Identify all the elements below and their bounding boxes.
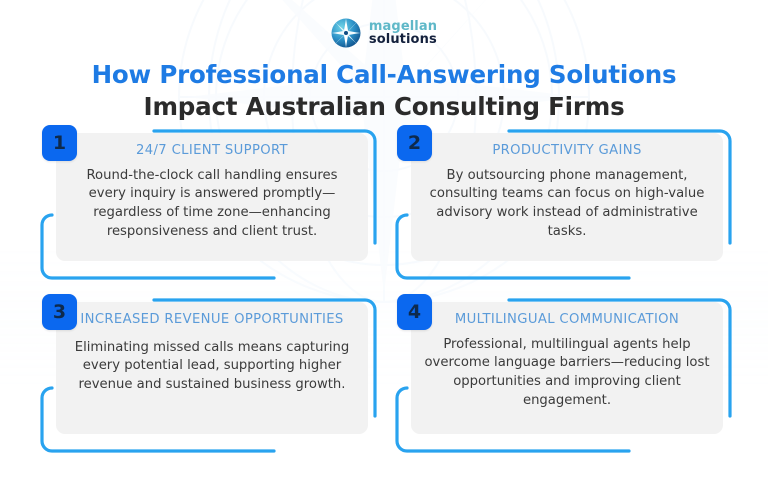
card-item: 24/7 CLIENT SUPPORT Round-the-clock call…	[36, 125, 391, 285]
brand-wordmark: magellan solutions	[369, 20, 437, 46]
card-title: MULTILINGUAL COMMUNICATION	[455, 311, 679, 328]
card-number-badge: 2	[397, 125, 432, 161]
card-item: INCREASED REVENUE OPPORTUNITIES Eliminat…	[36, 294, 391, 454]
card-panel: 24/7 CLIENT SUPPORT Round-the-clock call…	[56, 133, 368, 261]
page-title: How Professional Call-Answering Solution…	[0, 60, 768, 122]
card-panel: PRODUCTIVITY GAINS By outsourcing phone …	[411, 133, 723, 261]
card-panel: INCREASED REVENUE OPPORTUNITIES Eliminat…	[56, 302, 368, 434]
cards-grid: 24/7 CLIENT SUPPORT Round-the-clock call…	[0, 122, 768, 462]
card-panel: MULTILINGUAL COMMUNICATION Professional,…	[411, 302, 723, 434]
card-item: MULTILINGUAL COMMUNICATION Professional,…	[391, 294, 746, 454]
brand-name-bottom: solutions	[369, 33, 437, 46]
card-item: PRODUCTIVITY GAINS By outsourcing phone …	[391, 125, 746, 285]
page-title-line-1: How Professional Call-Answering Solution…	[0, 60, 768, 91]
card-body: Professional, multilingual agents help o…	[421, 336, 713, 411]
compass-rose-icon	[331, 18, 361, 48]
page-title-line-2: Impact Australian Consulting Firms	[0, 92, 768, 123]
card-number-badge: 1	[42, 125, 77, 161]
card-number-badge: 3	[42, 294, 77, 330]
card-number-badge: 4	[397, 294, 432, 330]
brand-logo: magellan solutions	[0, 0, 768, 46]
card-title: 24/7 CLIENT SUPPORT	[136, 142, 288, 159]
card-body: By outsourcing phone management, consult…	[421, 167, 713, 242]
card-title: INCREASED REVENUE OPPORTUNITIES	[80, 311, 343, 328]
card-title: PRODUCTIVITY GAINS	[492, 142, 641, 159]
card-body: Eliminating missed calls means capturing…	[66, 339, 358, 395]
card-body: Round-the-clock call handling ensures ev…	[66, 167, 358, 242]
infographic-sheet: magellan solutions How Professional Call…	[0, 0, 768, 502]
